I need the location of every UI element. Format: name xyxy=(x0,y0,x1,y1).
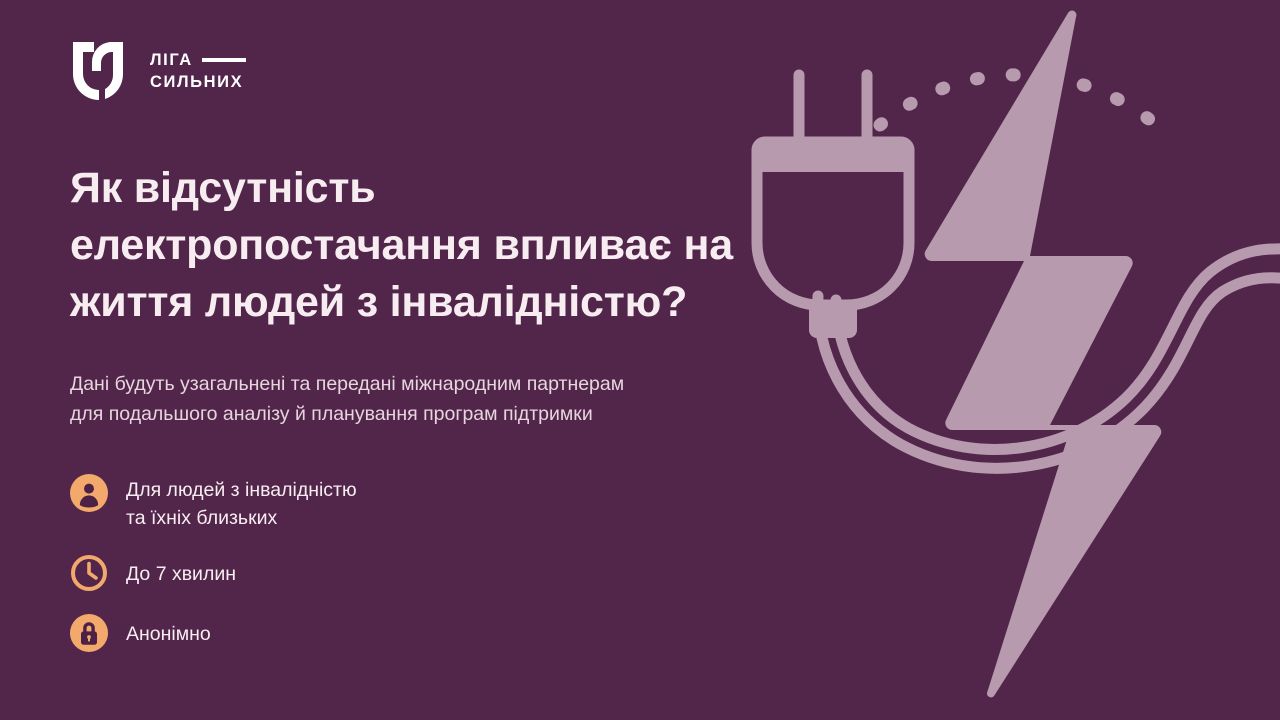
feature-label-audience: Для людей з інвалідністю та їхніх близьк… xyxy=(126,474,357,532)
logo-wordmark: ЛІГА СИЛЬНИХ xyxy=(150,52,246,91)
logo-text-line-1: ЛІГА xyxy=(150,52,193,69)
feature-label-duration: До 7 хвилин xyxy=(126,554,236,589)
poster-canvas: ЛІГА СИЛЬНИХ Як відсутність електропоста… xyxy=(0,0,1280,720)
brand-logo[interactable]: ЛІГА СИЛЬНИХ xyxy=(70,38,246,104)
cord-line-inner xyxy=(818,278,1280,469)
page-subtitle: Дані будуть узагальнені та передані міжн… xyxy=(70,370,770,429)
feature-list: Для людей з інвалідністю та їхніх близьк… xyxy=(70,474,590,652)
cord-line-outer xyxy=(836,249,1280,450)
shield-logo-icon xyxy=(70,38,136,104)
logo-dash xyxy=(202,58,246,62)
power-plug-lightning-illustration xyxy=(740,0,1280,720)
feature-item-duration: До 7 хвилин xyxy=(70,554,590,592)
lock-icon xyxy=(70,614,108,652)
subtitle-line-1: Дані будуть узагальнені та передані міжн… xyxy=(70,373,624,395)
clock-icon xyxy=(70,554,108,592)
lightning-bolt-icon xyxy=(925,11,1162,698)
dashed-arc xyxy=(880,75,1150,125)
page-title: Як відсутність електропостачання впливає… xyxy=(70,160,770,332)
feature-item-anonymity: Анонімно xyxy=(70,614,590,652)
headline-line-2: електропостачання впливає на xyxy=(70,221,733,269)
headline-line-1: Як відсутність xyxy=(70,164,375,212)
logo-text-line-2: СИЛЬНИХ xyxy=(150,74,246,91)
headline-line-3: життя людей з інвалідністю? xyxy=(70,278,687,326)
subtitle-line-2: для подальшого аналізу й планування прог… xyxy=(70,403,593,425)
person-icon xyxy=(70,474,108,512)
plug-icon xyxy=(757,75,909,338)
feature-item-audience: Для людей з інвалідністю та їхніх близьк… xyxy=(70,474,590,532)
feature-label-anonymity: Анонімно xyxy=(126,614,211,649)
